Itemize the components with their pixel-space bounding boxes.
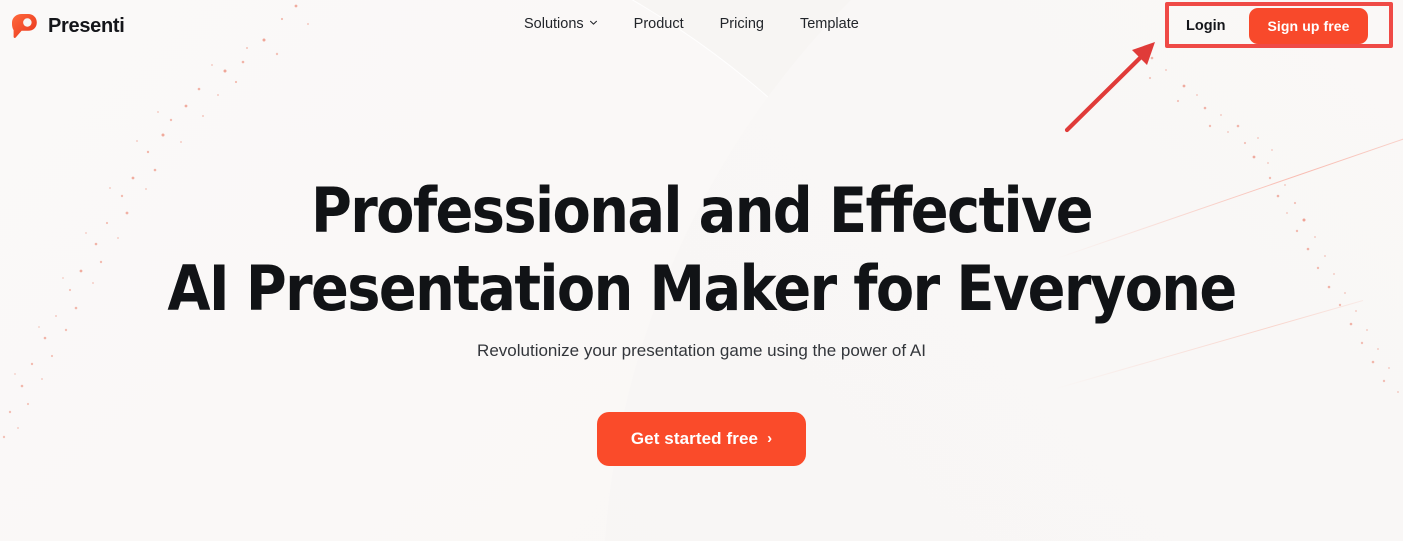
main-nav: Solutions Product Pricing Template xyxy=(506,13,877,35)
signup-free-button[interactable]: Sign up free xyxy=(1249,8,1367,44)
presenti-logo-icon xyxy=(8,10,40,42)
chevron-right-icon: › xyxy=(767,431,772,446)
nav-item-template[interactable]: Template xyxy=(782,13,877,35)
nav-item-template-label: Template xyxy=(800,13,859,35)
hero-title-line-1: Professional and Effective xyxy=(0,172,1403,250)
nav-item-product-label: Product xyxy=(634,13,684,35)
landing-page: Presenti Solutions Product Pricing Templ… xyxy=(0,0,1403,541)
nav-item-solutions-label: Solutions xyxy=(524,13,584,35)
hero-section: Professional and Effective AI Presentati… xyxy=(0,0,1403,541)
brand-logo[interactable]: Presenti xyxy=(8,10,125,42)
nav-item-solutions[interactable]: Solutions xyxy=(506,13,616,35)
get-started-free-button[interactable]: Get started free › xyxy=(597,412,806,466)
get-started-free-label: Get started free xyxy=(631,429,758,449)
auth-actions: Login Sign up free xyxy=(1172,8,1368,44)
login-button[interactable]: Login xyxy=(1172,12,1239,40)
site-header: Presenti Solutions Product Pricing Templ… xyxy=(0,0,1403,52)
hero-subtitle: Revolutionize your presentation game usi… xyxy=(0,341,1403,361)
chevron-down-icon xyxy=(589,18,598,27)
nav-item-pricing-label: Pricing xyxy=(720,13,764,35)
brand-name: Presenti xyxy=(48,15,125,38)
nav-item-product[interactable]: Product xyxy=(616,13,702,35)
hero-title-line-2: AI Presentation Maker for Everyone xyxy=(0,250,1403,328)
hero-cta-wrapper: Get started free › xyxy=(0,412,1403,466)
hero-title: Professional and Effective AI Presentati… xyxy=(0,172,1403,328)
nav-item-pricing[interactable]: Pricing xyxy=(702,13,782,35)
